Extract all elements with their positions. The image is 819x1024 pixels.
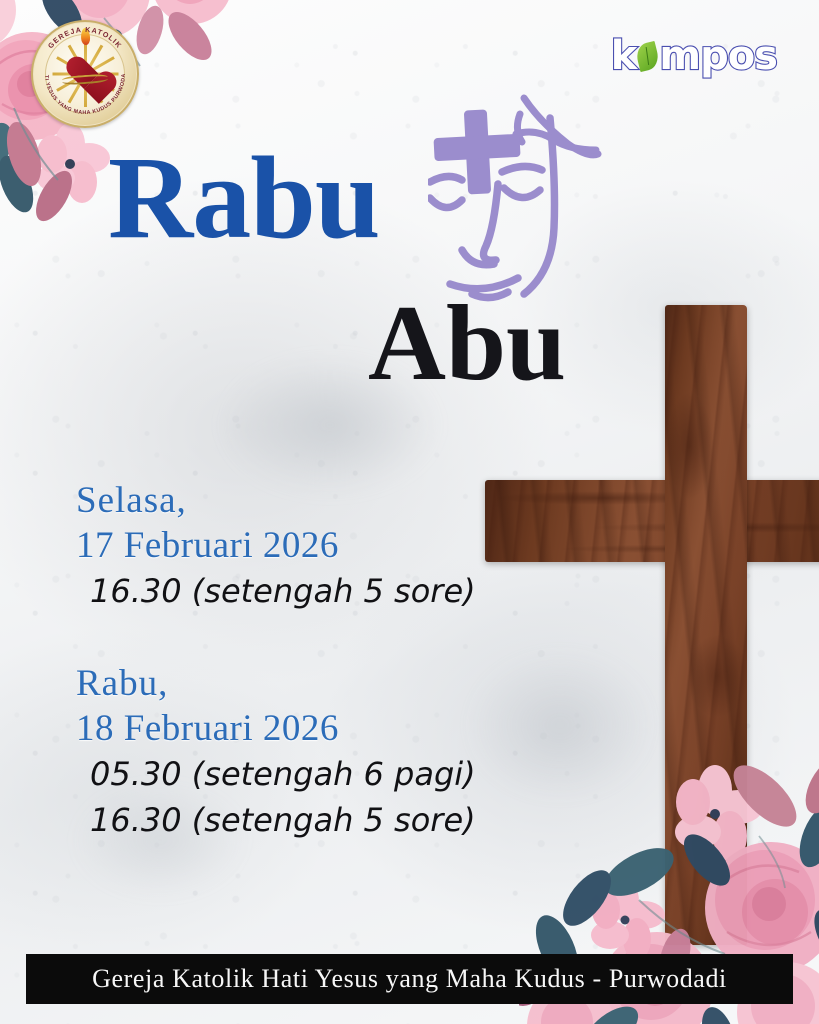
rabu-abu-poster: GEREJA KATOLIK HATI YESUS YANG MAHA KUDU… (0, 0, 819, 1024)
bottom-banner-text: Gereja Katolik Hati Yesus yang Maha Kudu… (92, 964, 727, 994)
svg-text:GEREJA KATOLIK: GEREJA KATOLIK (46, 25, 124, 50)
leaf-icon (634, 40, 661, 71)
kompos-logo-part2: mpos (659, 36, 777, 76)
sacred-heart-church-seal: GEREJA KATOLIK HATI YESUS YANG MAHA KUDU… (31, 20, 139, 128)
headline-rabu: Rabu (108, 139, 379, 257)
kompos-logo[interactable]: k mpos (611, 36, 777, 76)
schedule-day: Selasa, (76, 478, 516, 523)
bottom-banner: Gereja Katolik Hati Yesus yang Maha Kudu… (26, 954, 793, 1004)
schedule-time: 16.30 (setengah 5 sore) (90, 797, 516, 843)
cross-horizontal-beam (485, 480, 819, 562)
seal-text: GEREJA KATOLIK HATI YESUS YANG MAHA KUDU… (31, 20, 139, 128)
kompos-logo-part1: k (611, 36, 637, 76)
schedule-day: Rabu, (76, 661, 516, 706)
headline-abu: Abu (368, 290, 566, 398)
schedule-time: 05.30 (setengah 6 pagi) (90, 751, 516, 797)
schedule-list: Selasa, 17 Februari 2026 16.30 (setengah… (76, 478, 516, 844)
cross-vertical-beam (665, 305, 747, 945)
ashes-face-illustration (428, 88, 603, 313)
ash-cross-mark (433, 109, 520, 194)
schedule-date: 17 Februari 2026 (76, 523, 516, 568)
schedule-entry: Selasa, 17 Februari 2026 16.30 (setengah… (76, 478, 516, 615)
ashes-face-svg (428, 88, 603, 313)
schedule-entry: Rabu, 18 Februari 2026 05.30 (setengah 6… (76, 661, 516, 844)
seal-text-top: GEREJA KATOLIK (46, 25, 124, 50)
schedule-time: 16.30 (setengah 5 sore) (90, 568, 516, 614)
schedule-date: 18 Februari 2026 (76, 706, 516, 751)
